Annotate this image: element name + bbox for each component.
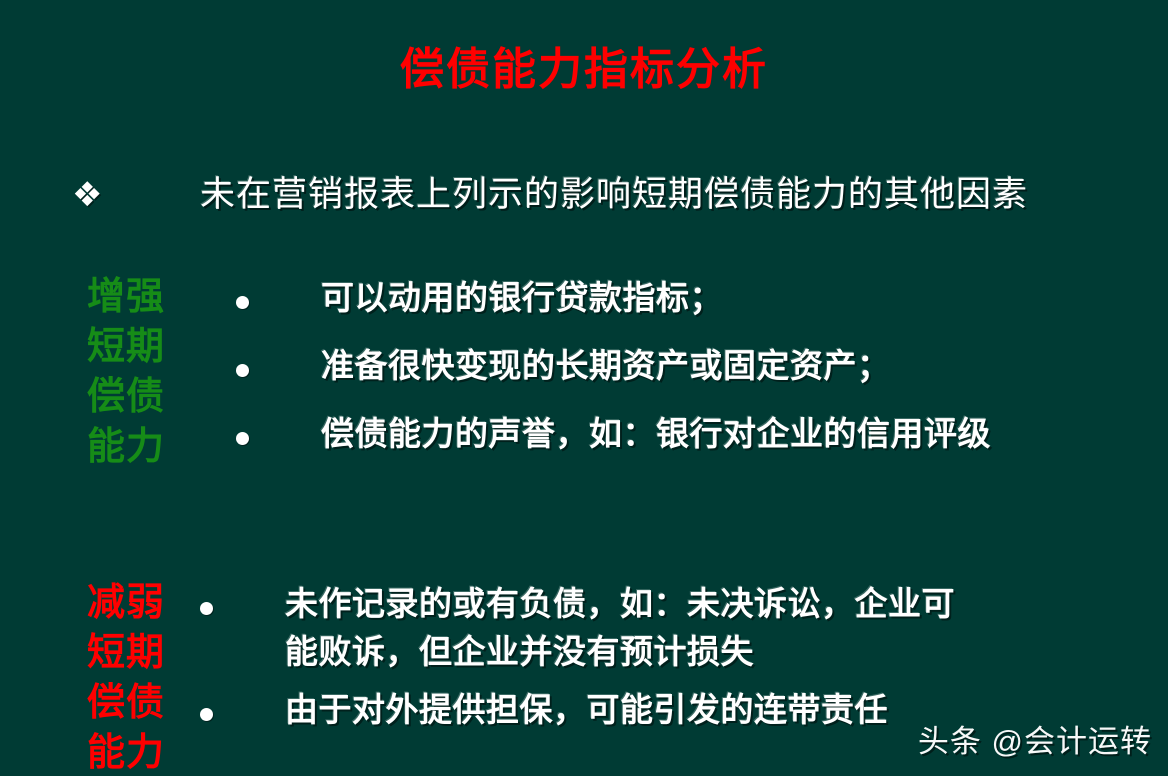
list-item: 可以动用的银行贷款指标；	[236, 274, 1136, 322]
bullet-dot-icon	[200, 708, 213, 721]
bullet-dot-icon	[236, 296, 249, 309]
bullet-text: 偿债能力的声誉，如：银行对企业的信用评级	[321, 410, 991, 458]
bullet-dot-icon	[236, 432, 249, 445]
side-label-increase-line-3: 偿债	[72, 372, 180, 422]
page-title: 偿债能力指标分析	[0, 44, 1168, 96]
side-label-decrease-line-1: 减弱	[72, 578, 180, 628]
subtitle-text: 未在营销报表上列示的影响短期偿债能力的其他因素	[200, 172, 1028, 218]
bullet-text: 准备很快变现的长期资产或固定资产；	[321, 342, 891, 390]
bullet-text: 可以动用的银行贷款指标；	[321, 274, 723, 322]
bullet-line: 准备很快变现的长期资产或固定资产；	[321, 342, 891, 390]
subtitle-row: ❖ 未在营销报表上列示的影响短期偿债能力的其他因素	[72, 172, 1132, 218]
side-label-increase-short-term-solvency: 增强 短期 偿债 能力	[72, 272, 180, 472]
side-label-increase-line-4: 能力	[72, 422, 180, 472]
bullet-dot-icon	[200, 602, 213, 615]
bullet-text: 未作记录的或有负债，如：未决诉讼，企业可 能败诉，但企业并没有预计损失	[285, 580, 955, 676]
bullet-dot-icon	[236, 364, 249, 377]
side-label-increase-line-1: 增强	[72, 272, 180, 322]
bullet-list-decrease: 未作记录的或有负债，如：未决诉讼，企业可 能败诉，但企业并没有预计损失 由于对外…	[200, 580, 1160, 744]
side-label-decrease-short-term-solvency: 减弱 短期 偿债 能力	[72, 578, 180, 776]
bullet-text: 由于对外提供担保，可能引发的连带责任	[285, 686, 888, 734]
list-item: 准备很快变现的长期资产或固定资产；	[236, 342, 1136, 390]
slide-canvas: 偿债能力指标分析 ❖ 未在营销报表上列示的影响短期偿债能力的其他因素 增强 短期…	[0, 0, 1168, 776]
side-label-increase-line-2: 短期	[72, 322, 180, 372]
bullet-line: 偿债能力的声誉，如：银行对企业的信用评级	[321, 410, 991, 458]
side-label-decrease-line-4: 能力	[72, 728, 180, 776]
side-label-decrease-line-2: 短期	[72, 628, 180, 678]
bullet-line: 未作记录的或有负债，如：未决诉讼，企业可	[285, 580, 955, 628]
bullet-line: 由于对外提供担保，可能引发的连带责任	[285, 686, 888, 734]
bullet-line: 可以动用的银行贷款指标；	[321, 274, 723, 322]
watermark: 头条 @会计运转	[918, 722, 1152, 762]
list-item: 未作记录的或有负债，如：未决诉讼，企业可 能败诉，但企业并没有预计损失	[200, 580, 1160, 676]
side-label-decrease-line-3: 偿债	[72, 678, 180, 728]
bullet-list-increase: 可以动用的银行贷款指标； 准备很快变现的长期资产或固定资产； 偿债能力的声誉，如…	[236, 274, 1136, 478]
bullet-line: 能败诉，但企业并没有预计损失	[285, 628, 955, 676]
list-item: 偿债能力的声誉，如：银行对企业的信用评级	[236, 410, 1136, 458]
diamond-bullet-icon: ❖	[72, 175, 112, 215]
